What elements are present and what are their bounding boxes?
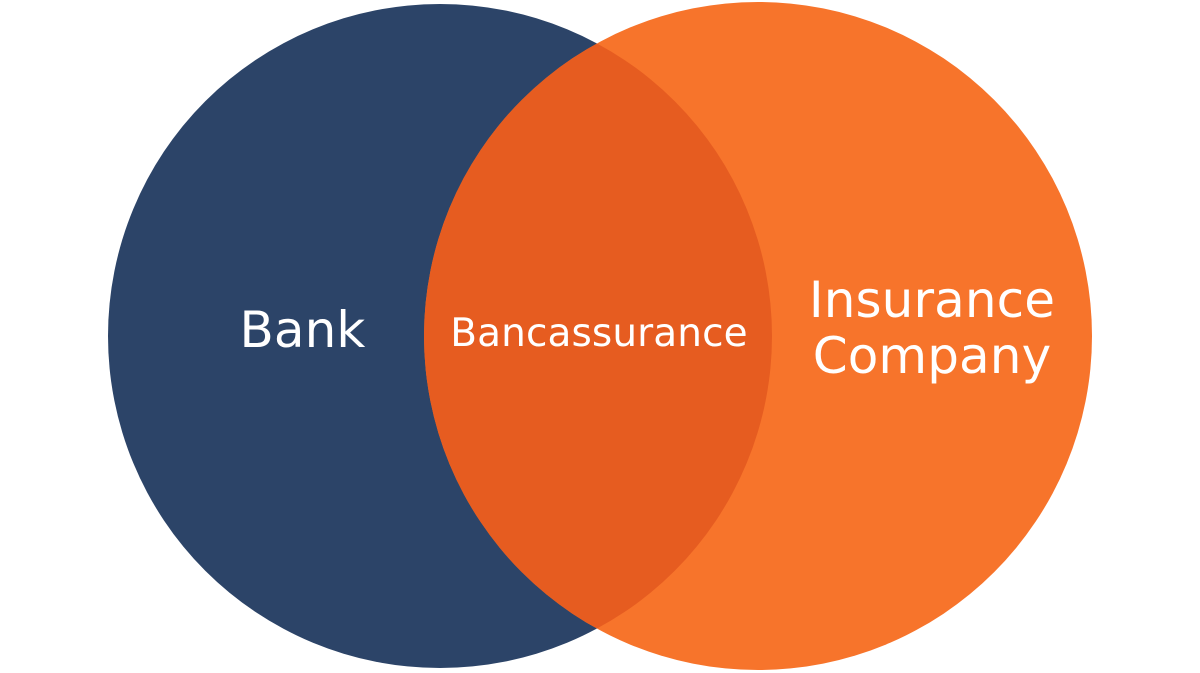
venn-label-bancassurance: Bancassurance	[425, 312, 773, 356]
venn-label-bank: Bank	[175, 302, 430, 358]
venn-diagram: Bank Bancassurance Insurance Company	[0, 0, 1200, 673]
venn-label-insurance-company: Insurance Company	[782, 272, 1082, 384]
